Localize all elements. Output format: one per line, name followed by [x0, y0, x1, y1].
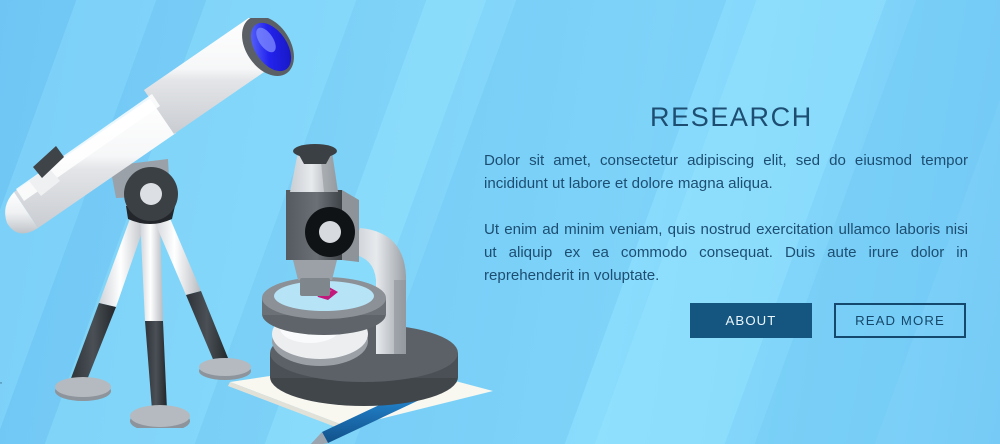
mount-pivot-inner [140, 183, 162, 205]
banner-canvas: RESEARCH Dolor sit amet, consectetur adi… [0, 0, 1000, 444]
microscope-illustration [228, 140, 498, 444]
page-title: RESEARCH [650, 104, 968, 131]
objective-lens-barrel [300, 278, 330, 296]
text-column: RESEARCH Dolor sit amet, consectetur adi… [484, 104, 968, 287]
stock-watermark: Adobe Stock | #188690965 [0, 327, 2, 440]
read-more-button[interactable]: READ MORE [834, 303, 966, 338]
about-button[interactable]: ABOUT [690, 303, 812, 338]
microscope-body [286, 144, 359, 296]
tripod-leg-left-lower [70, 303, 116, 385]
tripod-leg-center-upper [140, 218, 163, 321]
arm-shadow [394, 280, 406, 354]
tripod-foot-center-top [130, 405, 190, 427]
telescope-tripod [55, 216, 251, 428]
tripod-leg-center-lower [145, 321, 167, 410]
paragraph-2: Ut enim ad minim veniam, quis nostrud ex… [484, 218, 968, 287]
tripod-leg-right-lower [186, 291, 228, 364]
focus-knob-inner [319, 221, 341, 243]
eyepiece-cap-neck [298, 153, 332, 164]
tripod-leg-left-upper [99, 216, 147, 307]
tripod-foot-left-top [55, 377, 111, 397]
cta-button-row: ABOUT READ MORE [690, 303, 966, 338]
paragraph-1: Dolor sit amet, consectetur adipiscing e… [484, 149, 968, 195]
